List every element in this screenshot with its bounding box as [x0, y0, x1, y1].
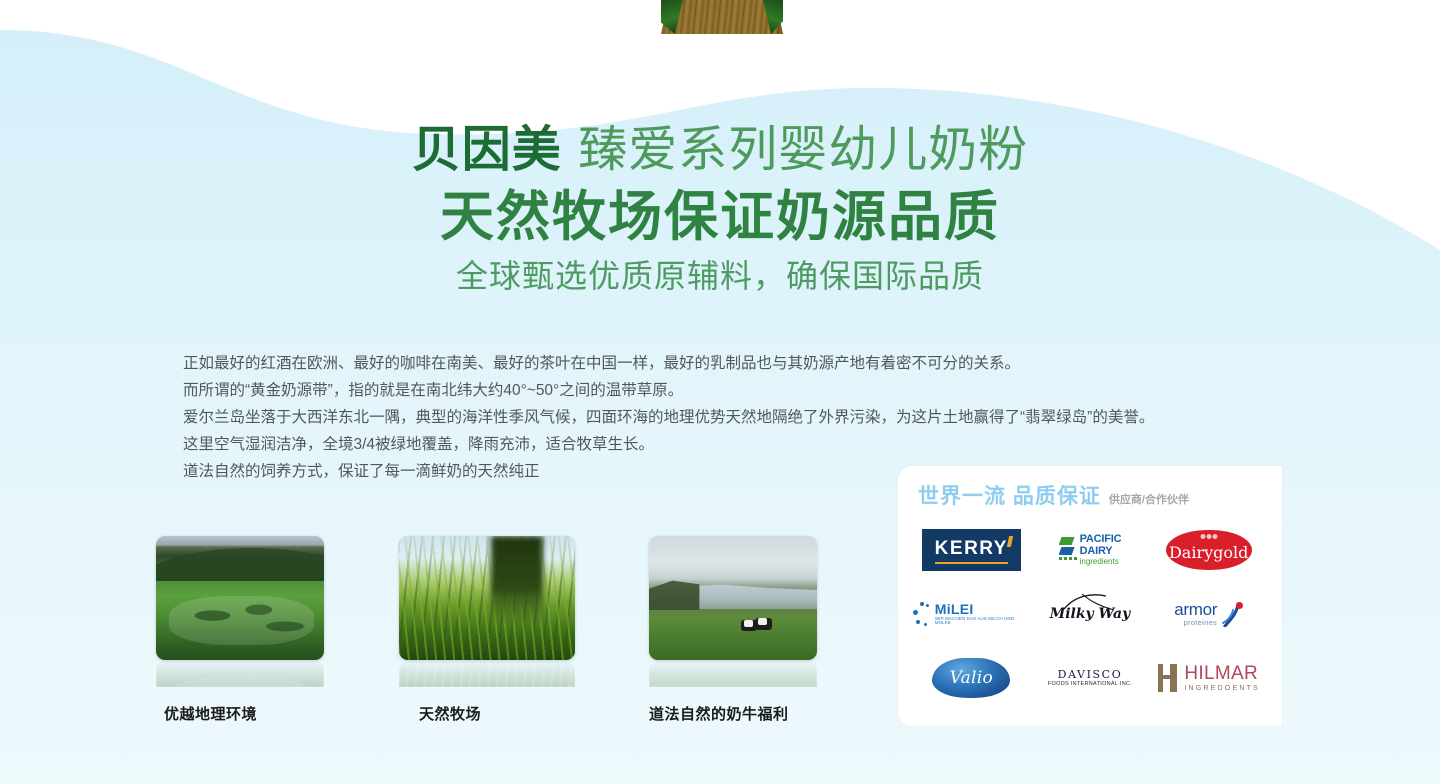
- partner-logo-milei[interactable]: MiLEI WIR MACHEN DAS AUS MILCH UND MOLKE: [912, 582, 1031, 646]
- partner-logo-milky-way[interactable]: Milky Way: [1031, 582, 1150, 646]
- davisco-tagline: FOODS INTERNATIONAL INC.: [1048, 682, 1132, 688]
- photo-card[interactable]: 优越地理环境: [156, 536, 324, 724]
- photo-reflection: [649, 661, 817, 687]
- copy-paragraph: 正如最好的红酒在欧洲、最好的咖啡在南美、最好的茶叶在中国一样，最好的乳制品也与其…: [152, 350, 1332, 377]
- armor-wordmark: armor: [1174, 601, 1217, 618]
- copy-paragraph: 爱尔兰岛坐落于大西洋东北一隅，典型的海洋性季风气候，四面环海的地理优势天然地隔绝…: [152, 404, 1332, 431]
- hilmar-h-icon: [1157, 664, 1179, 692]
- partner-logo-armor-proteines[interactable]: armor proteines: [1149, 582, 1268, 646]
- partners-title: 世界一流 品质保证: [918, 480, 1101, 510]
- milei-dots-icon: [912, 601, 932, 627]
- cow-icon: [755, 618, 772, 630]
- partners-header: 世界一流 品质保证 供应商/合作伙伴: [898, 466, 1282, 510]
- partner-logo-dairygold[interactable]: Dairygold: [1149, 518, 1268, 582]
- hero-headings: 贝因美 臻爱系列婴幼儿奶粉 天然牧场保证奶源品质 全球甄选优质原辅料，确保国际品…: [0, 118, 1440, 297]
- partner-logo-kerry[interactable]: KERRY: [912, 518, 1031, 582]
- pacific-line2: DAIRY: [1080, 546, 1122, 557]
- pacific-line3: ingredients: [1080, 558, 1122, 566]
- estuary-with-cows-photo[interactable]: [649, 536, 817, 660]
- photo-caption: 道法自然的奶牛福利: [649, 703, 817, 724]
- photo-card[interactable]: 道法自然的奶牛福利: [649, 536, 817, 724]
- photo-reflection: [399, 661, 575, 687]
- hilmar-subword: INGREDOENTS: [1184, 685, 1260, 692]
- partner-logo-hilmar[interactable]: HILMAR INGREDOENTS: [1149, 646, 1268, 710]
- body-copy: 正如最好的红酒在欧洲、最好的咖啡在南美、最好的茶叶在中国一样，最好的乳制品也与其…: [152, 350, 1332, 485]
- dairygold-crown-icon: [1200, 534, 1217, 539]
- armor-swirl-icon: [1219, 601, 1243, 627]
- milei-tagline: WIR MACHEN DAS AUS MILCH UND MOLKE: [935, 617, 1031, 626]
- partner-logo-valio[interactable]: Valio: [912, 646, 1031, 710]
- pacific-dairy-mark-icon: [1059, 534, 1077, 560]
- partner-logo-grid: KERRY PACIFIC DAIRY ingredients: [898, 510, 1282, 710]
- kerry-tick-icon: [1007, 536, 1013, 547]
- valio-wordmark: Valio: [950, 668, 993, 688]
- photo-reflection: [156, 661, 324, 687]
- brand-name: 贝因美: [412, 120, 562, 178]
- copy-paragraph: 而所谓的“黄金奶源带”，指的就是在南北纬大约40°~50°之间的温带草原。: [152, 377, 1332, 404]
- kerry-rule-icon: [935, 562, 1008, 564]
- davisco-wordmark: DAVISCO: [1048, 669, 1132, 680]
- bamboo-fragment-image: [661, 0, 783, 34]
- page-title: 贝因美 臻爱系列婴幼儿奶粉: [0, 118, 1440, 181]
- copy-paragraph: 这里空气湿润洁净，全境3/4被绿地覆盖，降雨充沛，适合牧草生长。: [152, 431, 1332, 458]
- photo-caption: 优越地理环境: [156, 703, 324, 724]
- partner-logo-davisco[interactable]: DAVISCO FOODS INTERNATIONAL INC.: [1031, 646, 1150, 710]
- dairygold-wordmark: Dairygold: [1169, 543, 1248, 562]
- headline: 天然牧场保证奶源品质: [0, 183, 1440, 249]
- milky-way-swoosh-icon: [1062, 593, 1118, 611]
- pacific-line1: PACIFIC: [1080, 534, 1122, 545]
- subheadline: 全球甄选优质原辅料，确保国际品质: [0, 255, 1440, 297]
- hilmar-wordmark: HILMAR: [1184, 664, 1260, 683]
- green-rolling-hills-photo[interactable]: [156, 536, 324, 660]
- promo-page: 贝因美 臻爱系列婴幼儿奶粉 天然牧场保证奶源品质 全球甄选优质原辅料，确保国际品…: [0, 0, 1440, 784]
- milei-wordmark: MiLEI: [935, 602, 1031, 617]
- partners-subtitle: 供应商/合作伙伴: [1109, 491, 1189, 507]
- partner-logo-pacific-dairy[interactable]: PACIFIC DAIRY ingredients: [1031, 518, 1150, 582]
- armor-subword: proteines: [1174, 619, 1217, 627]
- photo-card-list: 优越地理环境 天然牧场 道法自然的奶牛福利: [156, 536, 856, 736]
- partners-panel: 世界一流 品质保证 供应商/合作伙伴 KERRY PACIFIC DAIRY i…: [898, 466, 1282, 726]
- sunlit-grass-macro-photo[interactable]: [399, 536, 575, 660]
- photo-card[interactable]: 天然牧场: [399, 536, 575, 724]
- series-name: 臻爱系列婴幼儿奶粉: [578, 121, 1028, 178]
- kerry-wordmark: KERRY: [935, 538, 1008, 559]
- photo-caption: 天然牧场: [399, 703, 575, 724]
